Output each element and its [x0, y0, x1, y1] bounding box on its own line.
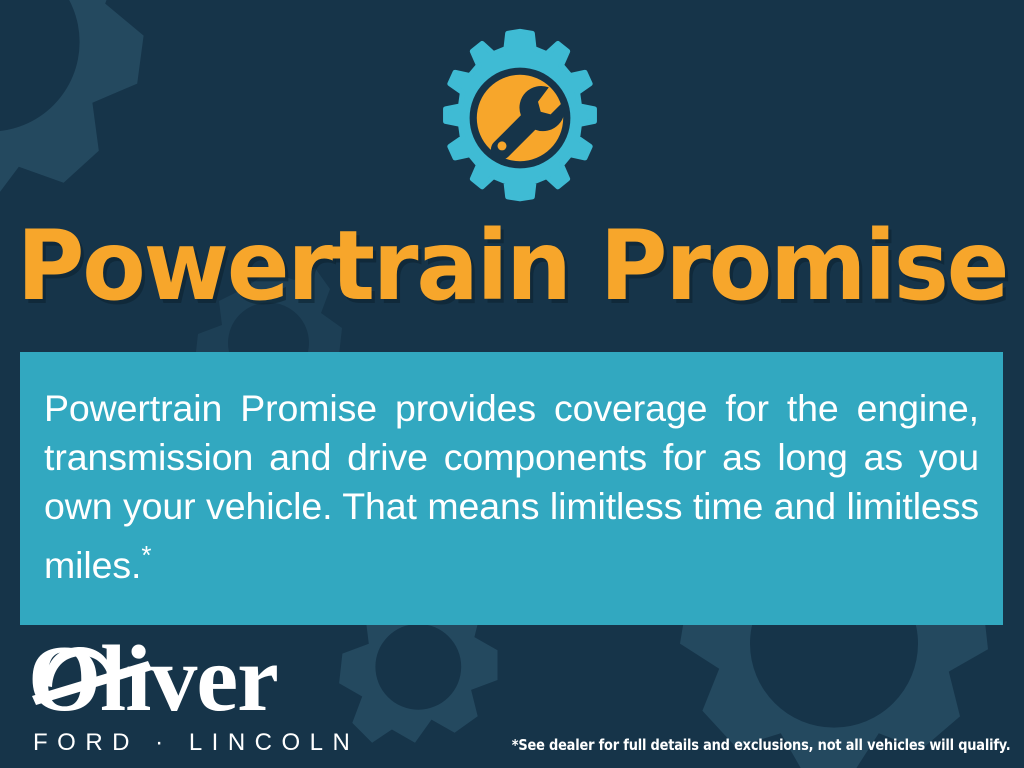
- gear-outer-shape: [446, 32, 595, 199]
- powertrain-promise-poster: Powertrain Promise Powertrain Promise pr…: [0, 0, 1024, 768]
- promise-panel: Powertrain Promise provides coverage for…: [20, 352, 1003, 625]
- gear-wrench-icon: [430, 28, 610, 208]
- page-title: Powertrain Promise: [0, 218, 1024, 314]
- logo-subtitle: FORD · LINCOLN: [33, 730, 359, 756]
- promise-body-text: Powertrain Promise provides coverage for…: [44, 384, 979, 639]
- disclaimer-text: *See dealer for full details and exclusi…: [511, 736, 1010, 754]
- bowler-hat-icon: [30, 642, 156, 708]
- logo-wordmark: Oliver: [28, 640, 328, 726]
- promise-asterisk: *: [141, 540, 151, 570]
- promise-body-copy: Powertrain Promise provides coverage for…: [44, 387, 979, 586]
- dealer-logo: Oliver FORD · LINCOLN: [28, 640, 328, 758]
